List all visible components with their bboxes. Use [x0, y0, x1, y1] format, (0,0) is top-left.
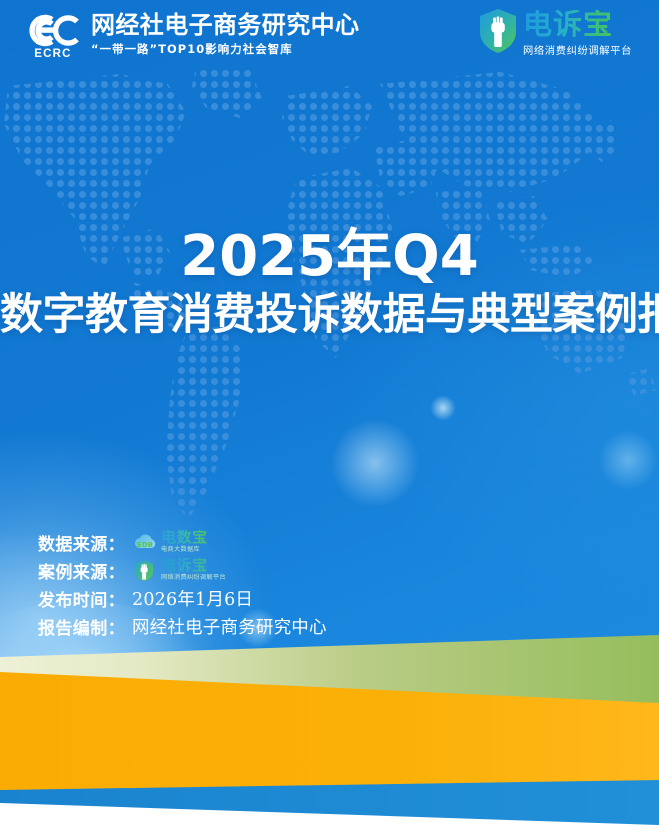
report-name-title: 数字教育消费投诉数据与典型案例报告	[0, 293, 659, 338]
dsb-title: 电诉宝	[523, 10, 632, 39]
svg-text:EDB: EDB	[137, 541, 153, 549]
shield-fist-icon	[132, 559, 158, 581]
meta-label: 发布时间：	[38, 586, 132, 611]
ecrc-wordmark: 网经社电子商务研究中心 “一带一路”TOP10影响力社会智库	[91, 13, 359, 56]
dsb-wordmark: 电诉宝 网络消费纠纷调解平台	[523, 8, 632, 57]
meta-row-publisher: 报告编制： 网经社电子商务研究中心	[38, 612, 327, 640]
dsb-mini-title: 电诉宝	[161, 558, 226, 573]
ecrc-subtitle: “一带一路”TOP10影响力社会智库	[91, 41, 359, 57]
report-period-title: 2025年Q4	[0, 228, 659, 285]
edb-mini-logo: EDB 电数宝 电商大数据库	[132, 530, 208, 554]
ecrc-abbr: ECRC	[22, 48, 84, 60]
dsb-mini-subtitle: 网络消费纠纷调解平台	[161, 575, 226, 581]
dsb-subtitle: 网络消费纠纷调解平台	[523, 42, 632, 57]
meta-label: 案例来源：	[38, 558, 132, 583]
cloud-edb-icon: EDB	[132, 531, 158, 553]
publisher-value: 网经社电子商务研究中心	[132, 614, 327, 639]
meta-row-data-source: 数据来源： EDB 电数宝	[38, 528, 327, 556]
report-cover-page: ECRC 网经社电子商务研究中心 “一带一路”TOP10影响力社会智库	[0, 0, 659, 835]
edb-title: 电数宝	[161, 530, 208, 545]
cover-header: ECRC 网经社电子商务研究中心 “一带一路”TOP10影响力社会智库	[0, 0, 659, 70]
dsb-mini-logo: 电诉宝 网络消费纠纷调解平台	[132, 558, 226, 582]
meta-label: 数据来源：	[38, 530, 132, 555]
ecrc-title: 网经社电子商务研究中心	[91, 13, 359, 38]
edb-subtitle: 电商大数据库	[161, 547, 208, 553]
dsb-logo: 电诉宝 网络消费纠纷调解平台	[478, 8, 632, 57]
dsb-mini-wordmark: 电诉宝 网络消费纠纷调解平台	[161, 558, 226, 581]
meta-row-publish-date: 发布时间： 2026年1月6日	[38, 584, 327, 612]
bottom-ribbon-decoration	[0, 625, 659, 835]
meta-row-case-source: 案例来源：	[38, 556, 327, 584]
publish-date-value: 2026年1月6日	[132, 586, 253, 611]
edb-wordmark: 电数宝 电商大数据库	[161, 530, 208, 553]
shield-fist-icon	[478, 8, 518, 54]
ecrc-logo-icon: ECRC	[22, 11, 84, 59]
cover-meta-block: 数据来源： EDB 电数宝	[38, 528, 327, 640]
cover-title-block: 2025年Q4 数字教育消费投诉数据与典型案例报告	[0, 228, 659, 338]
ecrc-logo: ECRC 网经社电子商务研究中心 “一带一路”TOP10影响力社会智库	[22, 11, 359, 59]
meta-label: 报告编制：	[38, 614, 132, 639]
